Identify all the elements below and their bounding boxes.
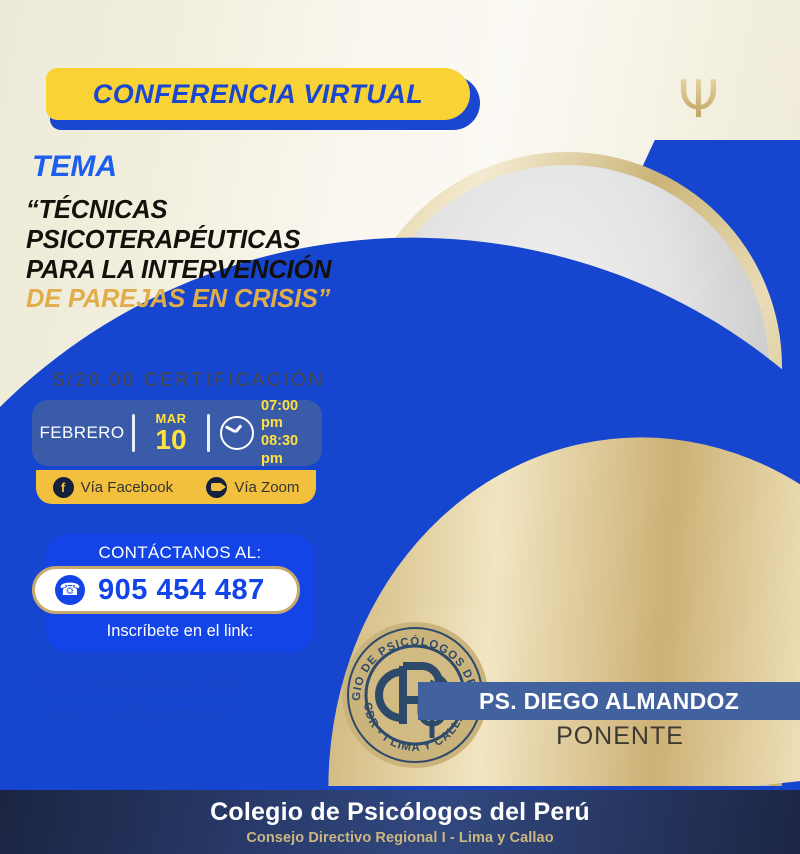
speaker-role: PONENTE xyxy=(470,722,770,751)
price-label: S/20.00 CERTIFICACIÓN xyxy=(52,370,325,392)
conference-title: “TÉCNICAS PSICOTERAPÉUTICAS PARA LA INTE… xyxy=(26,196,426,315)
quote-line-1: “El Colegio es de xyxy=(30,672,250,699)
via-facebook-label: Vía Facebook xyxy=(81,479,174,496)
institutional-quote: “El Colegio es de sus Colegiados” xyxy=(30,672,250,726)
title-line-2: PSICOTERAPÉUTICAS xyxy=(26,226,426,256)
via-zoom[interactable]: Vía Zoom xyxy=(206,477,299,498)
speaker-name-bar: PS. DIEGO ALMANDOZ xyxy=(418,682,800,720)
clock-icon xyxy=(220,416,254,450)
banner-body: CONFERENCIA VIRTUAL xyxy=(46,68,470,120)
contact-heading: CONTÁCTANOS AL: xyxy=(99,543,262,563)
date-day-number: 10 xyxy=(135,426,207,454)
banner-label: CONFERENCIA VIRTUAL xyxy=(93,79,424,110)
conference-banner: CONFERENCIA VIRTUAL xyxy=(46,68,476,126)
date-month: FEBRERO xyxy=(32,423,132,443)
time-end: 08:30 pm xyxy=(261,433,322,468)
title-line-4: DE PAREJAS EN CRISIS” xyxy=(26,285,426,315)
quote-line-2: sus Colegiados” xyxy=(30,699,250,726)
phone-ringing-icon: ☎ xyxy=(55,575,85,605)
broadcast-channels: f Vía Facebook Vía Zoom xyxy=(36,470,316,504)
speaker-name: PS. DIEGO ALMANDOZ xyxy=(479,688,739,715)
psi-icon: Ψ xyxy=(678,74,719,126)
date-bar: FEBRERO MAR 10 07:00 pm 08:30 pm xyxy=(32,400,322,466)
link-prompt: Inscríbete en el link: xyxy=(46,622,314,641)
phone-number: 905 454 487 xyxy=(98,574,265,607)
title-line-3: PARA LA INTERVENCIÓN xyxy=(26,256,426,286)
title-line-1: “TÉCNICAS xyxy=(26,196,426,226)
via-facebook[interactable]: f Vía Facebook xyxy=(53,477,174,498)
zoom-camera-icon xyxy=(206,477,227,498)
via-zoom-label: Vía Zoom xyxy=(234,479,299,496)
time-start: 07:00 pm xyxy=(261,398,322,433)
facebook-icon: f xyxy=(53,477,74,498)
footer-title: Colegio de Psicólogos del Perú xyxy=(210,798,590,827)
tema-label: TEMA xyxy=(32,150,117,184)
footer: Colegio de Psicólogos del Perú Consejo D… xyxy=(0,790,800,854)
date-day: MAR 10 xyxy=(135,412,207,454)
footer-subtitle: Consejo Directivo Regional I - Lima y Ca… xyxy=(246,830,553,846)
date-time: 07:00 pm 08:30 pm xyxy=(210,398,322,469)
poster: Ψ CONFERENCIA VIRTUAL TEMA “TÉCNICAS PSI… xyxy=(0,0,800,854)
phone-pill[interactable]: ☎ 905 454 487 xyxy=(32,566,300,614)
